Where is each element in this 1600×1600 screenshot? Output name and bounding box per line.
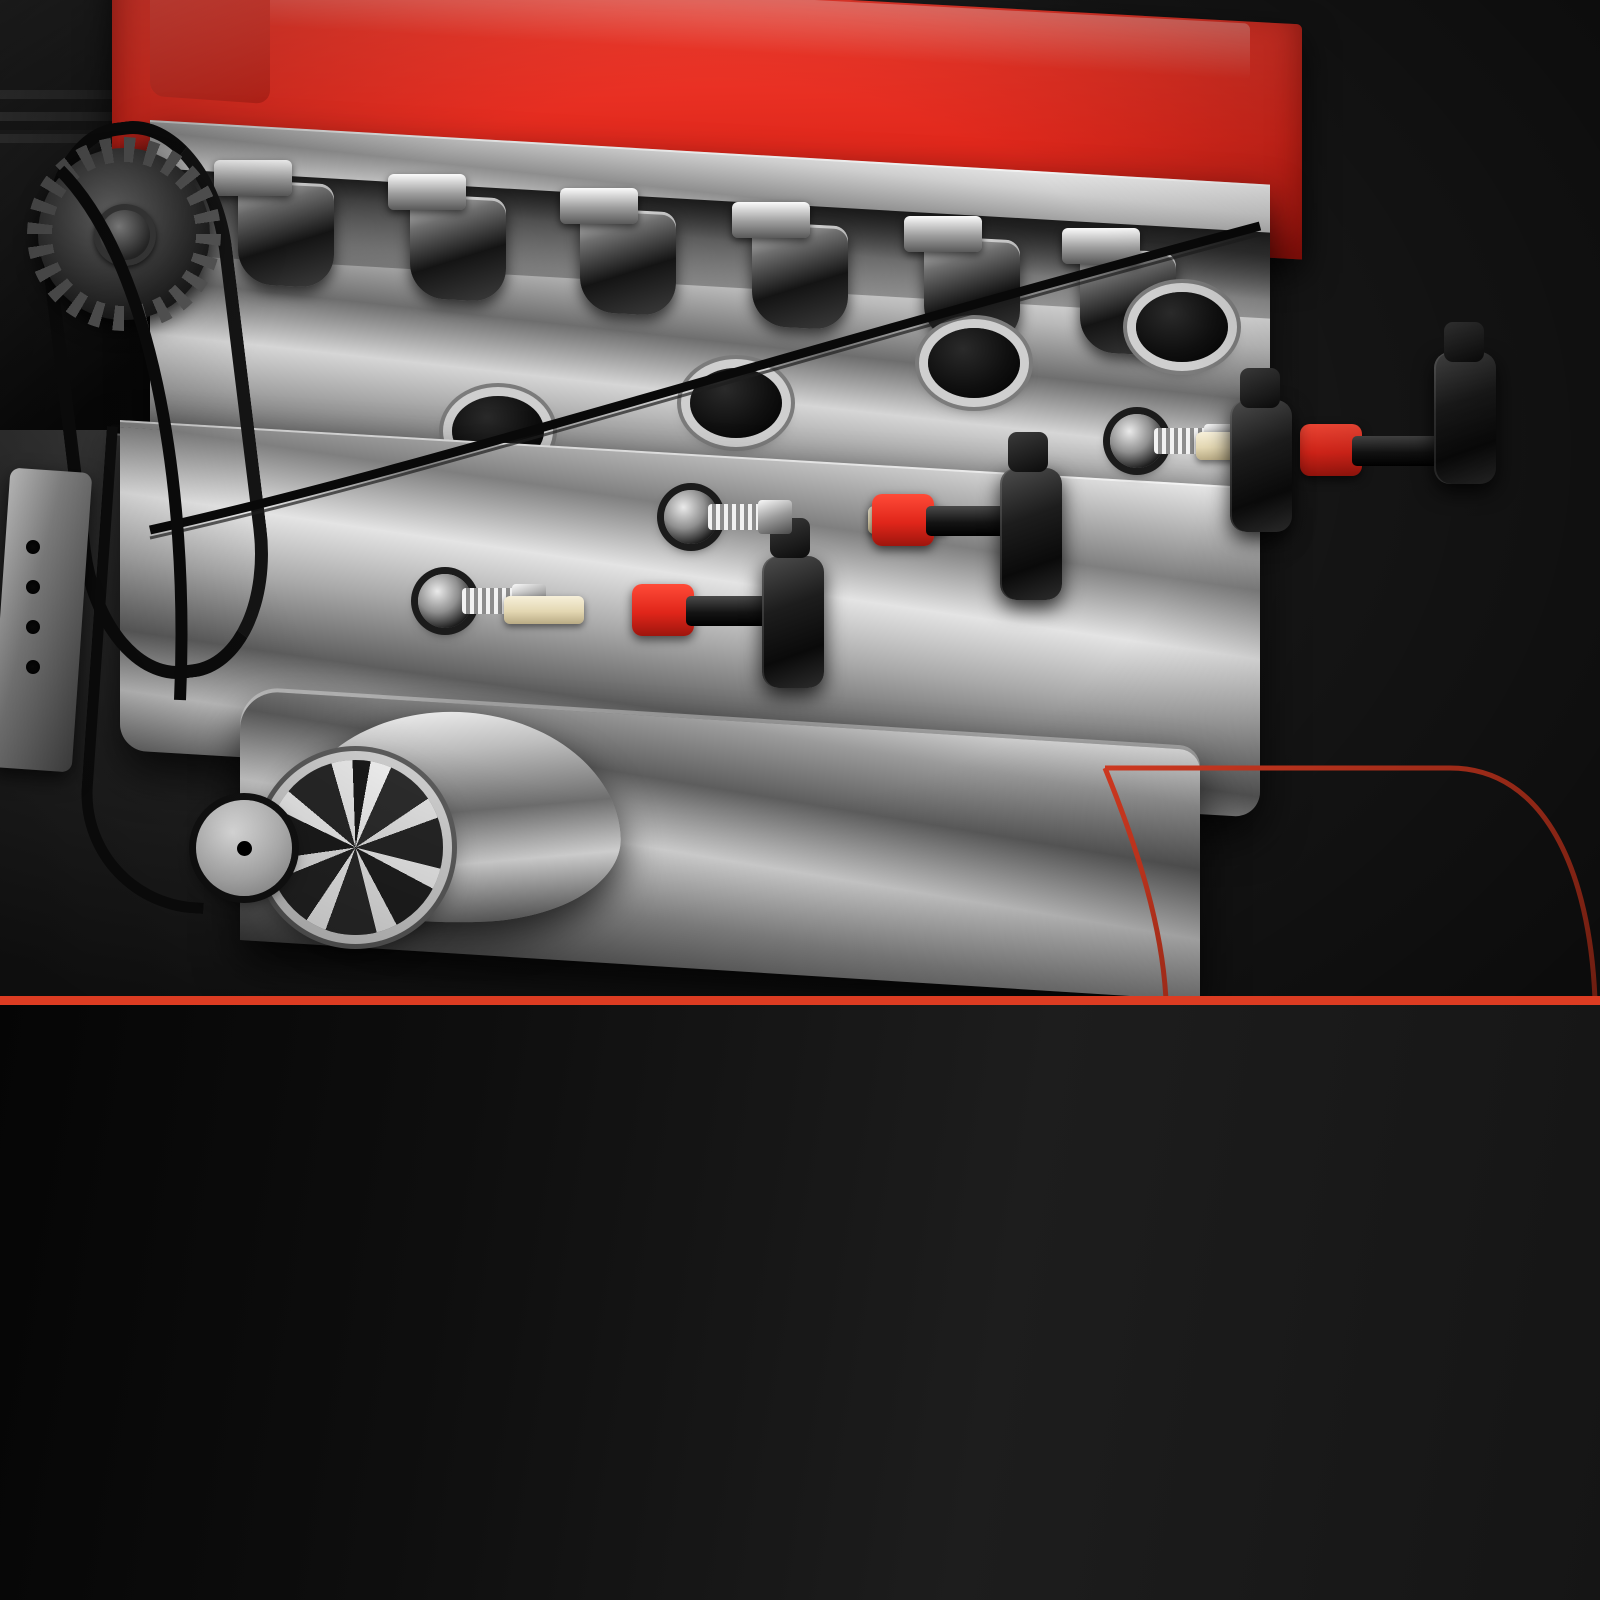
engine-hero-image xyxy=(0,0,1600,996)
product-feature-banner: OE SPECIFICATIONS Each ignition coil is … xyxy=(0,0,1600,1600)
orange-divider xyxy=(0,996,1600,1005)
spec-panel: OE SPECIFICATIONS Each ignition coil is … xyxy=(0,1005,1600,1600)
orange-arc-outline xyxy=(1090,752,1600,996)
